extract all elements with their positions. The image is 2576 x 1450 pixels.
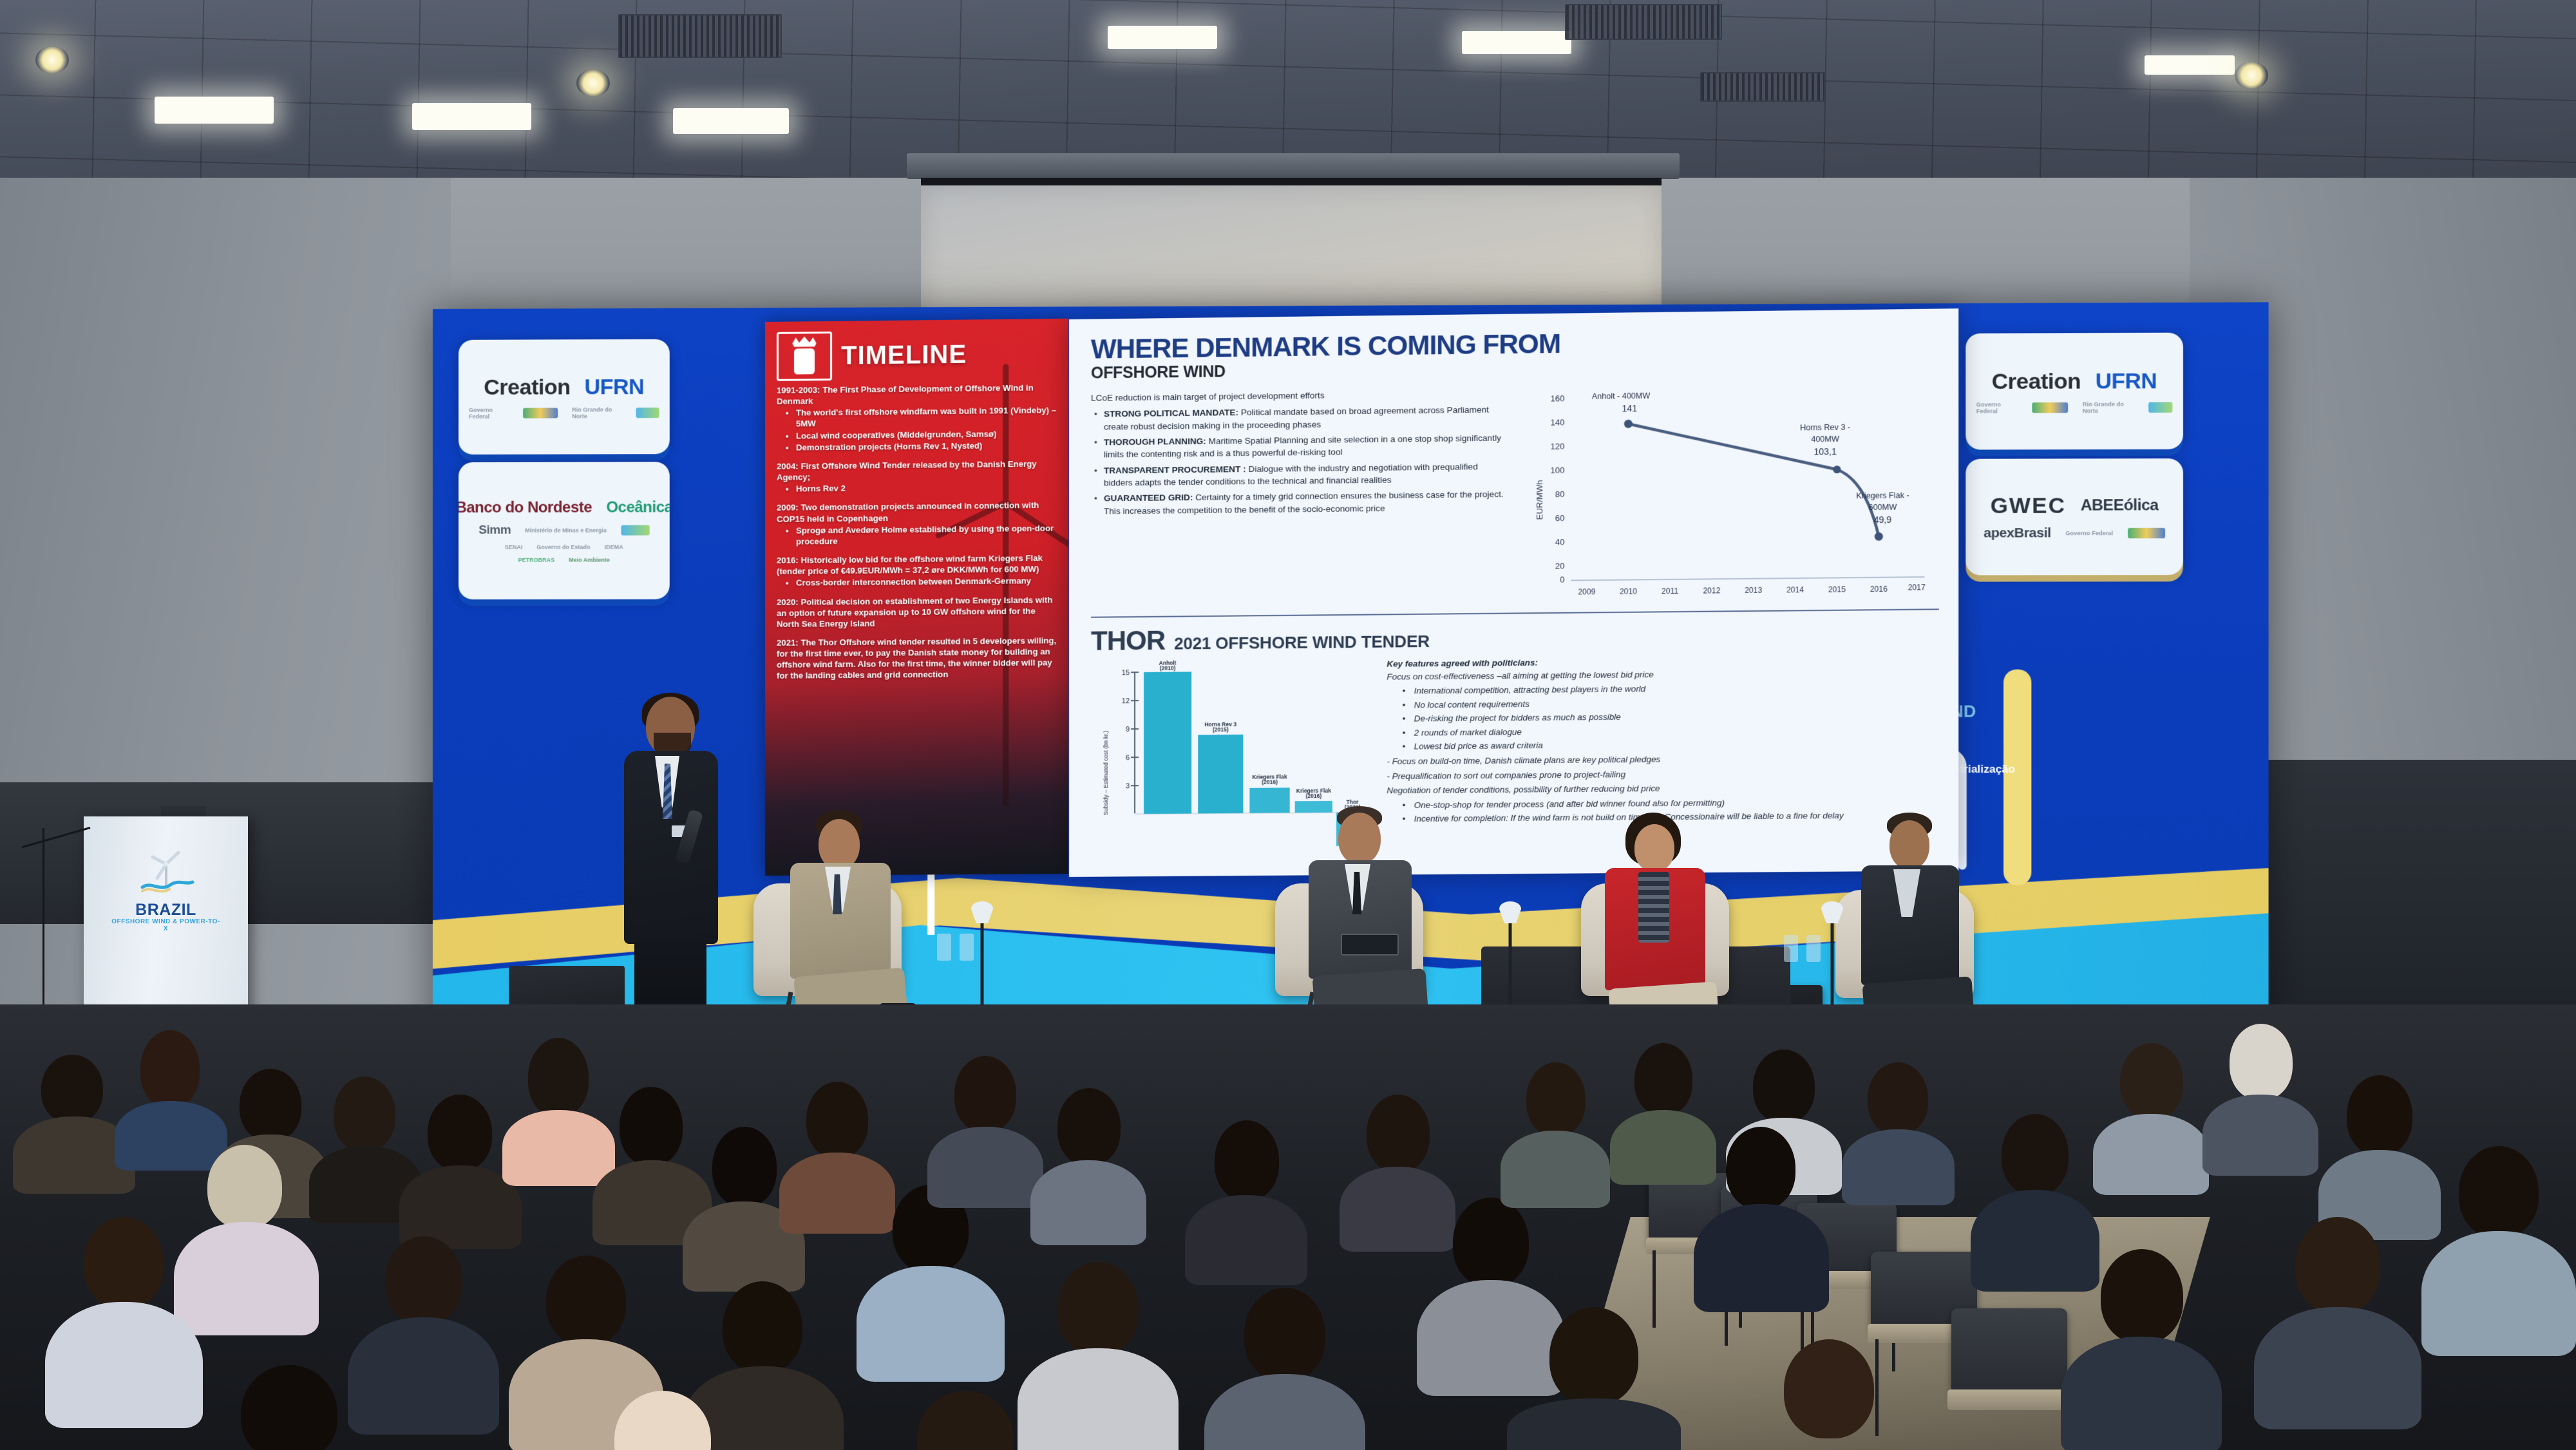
svg-text:(2010): (2010) bbox=[1160, 665, 1176, 672]
slide-lower-section: THOR 2021 OFFSHORE WIND TENDER Subsidy –… bbox=[1069, 610, 1958, 877]
audience-shoulders bbox=[45, 1302, 203, 1428]
sponsor-board-right-lower: GWEC ABEEólica apexBrasil Governo Federa… bbox=[1965, 458, 2183, 575]
audience-shoulders bbox=[2093, 1114, 2209, 1195]
audience-member bbox=[857, 1185, 1005, 1378]
audience-head bbox=[723, 1281, 802, 1373]
sponsor-logo-oceanica: Oceânica bbox=[606, 498, 669, 516]
ceiling-light bbox=[2145, 55, 2235, 75]
audience-member bbox=[927, 1056, 1043, 1204]
sponsor-logo-rnmais bbox=[636, 408, 659, 418]
thor-bullet: Lowest bid price as award criteria bbox=[1414, 736, 1927, 753]
audience-chair bbox=[1951, 1308, 2067, 1396]
ceiling-spotlight bbox=[2235, 62, 2268, 89]
timeline-text: First Offshore Wind Tender released by t… bbox=[777, 459, 1037, 482]
audience-shoulders bbox=[1842, 1129, 1955, 1205]
sponsor-logo-apexbrasil: apexBrasil bbox=[1984, 525, 2050, 541]
timeline-block: 2020: Political decision on establishmen… bbox=[777, 594, 1058, 630]
ceiling-spotlight bbox=[35, 46, 69, 73]
audience-head bbox=[1244, 1288, 1325, 1380]
sponsor-board-left-upper: Creation UFRN Governo Federal Rio Grande… bbox=[459, 339, 670, 455]
slide-lede: LCoE reduction is main target of project… bbox=[1091, 387, 1505, 404]
audience-head bbox=[1215, 1120, 1279, 1200]
audience-shoulders bbox=[1030, 1160, 1146, 1245]
sponsor-logo-creation: Creation bbox=[484, 375, 570, 400]
podium-logo: BRAZIL OFFSHORE WIND & POWER-TO-X bbox=[109, 847, 222, 932]
timeline-item: Demonstration projects (Horns Rev 1, Nys… bbox=[796, 439, 1058, 453]
audience-head bbox=[334, 1077, 395, 1151]
audience-head bbox=[2459, 1146, 2539, 1238]
svg-text:2009: 2009 bbox=[1578, 587, 1595, 596]
presentation-slide: WHERE DENMARK IS COMING FROM OFFSHORE WI… bbox=[1069, 308, 1958, 877]
svg-text:2011: 2011 bbox=[1662, 587, 1678, 596]
audience-shoulders bbox=[927, 1127, 1043, 1208]
water-glass bbox=[1806, 935, 1821, 962]
audience-head bbox=[1868, 1062, 1928, 1135]
audience-head bbox=[41, 1055, 103, 1123]
svg-text:(2015): (2015) bbox=[1213, 726, 1229, 733]
svg-text:2012: 2012 bbox=[1703, 586, 1720, 595]
audience-head bbox=[2101, 1249, 2183, 1343]
svg-text:2014: 2014 bbox=[1786, 585, 1804, 594]
audience-member bbox=[869, 1391, 1063, 1450]
slide-bullet: STRONG POLITICAL MANDATE: Political mand… bbox=[1104, 404, 1505, 433]
timeline-text: Two demonstration projects announced in … bbox=[777, 500, 1039, 523]
timeline-year: 2009: bbox=[777, 503, 799, 513]
thor-subtitle: 2021 OFFSHORE WIND TENDER bbox=[1174, 632, 1430, 654]
standing-speaker bbox=[615, 697, 724, 1044]
sponsor-logo-senai: SENAI bbox=[505, 543, 523, 550]
audience-head bbox=[2230, 1024, 2293, 1100]
ceiling-light bbox=[1108, 26, 1217, 49]
thor-dash-line: - Prequalification to sort out companies… bbox=[1387, 766, 1927, 782]
audience-member bbox=[2421, 1146, 2576, 1352]
audience-member bbox=[2093, 1043, 2209, 1191]
sponsor-logo-rn: Rio Grande do Norte bbox=[2083, 400, 2134, 414]
panelist-tablet bbox=[1341, 934, 1399, 956]
timeline-text: Historically low bid for the offshore wi… bbox=[777, 553, 1043, 576]
svg-text:0: 0 bbox=[1560, 575, 1564, 585]
audience-member bbox=[1185, 1120, 1307, 1281]
svg-text:103,1: 103,1 bbox=[1814, 446, 1837, 457]
timeline-block: 2009: Two demonstration projects announc… bbox=[777, 500, 1058, 547]
audience-member bbox=[1501, 1062, 1610, 1204]
svg-text:80: 80 bbox=[1555, 489, 1565, 499]
audience-member bbox=[193, 1365, 386, 1450]
svg-text:40: 40 bbox=[1555, 537, 1565, 547]
audience-head bbox=[546, 1256, 626, 1346]
audience-chair-seat bbox=[1947, 1389, 2071, 1410]
audience-member bbox=[2254, 1217, 2421, 1423]
sponsor-logo-ufrn: UFRN bbox=[2096, 368, 2157, 394]
audience-head bbox=[806, 1082, 868, 1158]
audience-head bbox=[2347, 1075, 2412, 1155]
timeline-item: Sprogø and Avedøre Holme established by … bbox=[796, 522, 1058, 547]
timeline-item: Cross-border interconnection between Den… bbox=[796, 575, 1058, 588]
ceiling-light bbox=[1462, 31, 1571, 54]
microphone-stand bbox=[43, 828, 44, 1008]
sponsor-logo-brasil bbox=[523, 408, 558, 418]
audience-member bbox=[1739, 1339, 1919, 1450]
timeline-block: 2021: The Thor Offshore wind tender resu… bbox=[777, 635, 1058, 681]
timeline-block: 1991-2003: The First Phase of Developmen… bbox=[777, 382, 1058, 453]
slide-bullet: THOROUGH PLANNING: Maritime Spatial Plan… bbox=[1104, 432, 1505, 462]
audience-head bbox=[241, 1365, 337, 1450]
svg-text:EUR/MWh: EUR/MWh bbox=[1535, 480, 1544, 520]
audience-shoulders bbox=[2421, 1231, 2576, 1356]
panelist-head bbox=[819, 819, 860, 869]
audience-head bbox=[1057, 1262, 1139, 1355]
timeline-text: Political decision on establishment of t… bbox=[777, 595, 1052, 629]
audience-head bbox=[2120, 1043, 2183, 1119]
svg-text:Kriegers Flak -: Kriegers Flak - bbox=[1856, 491, 1909, 500]
podium-subtitle: OFFSHORE WIND & POWER-TO-X bbox=[109, 918, 222, 932]
sponsor-logo-gov-estado: Governo do Estado bbox=[536, 543, 590, 550]
svg-text:120: 120 bbox=[1551, 442, 1565, 451]
audience-head bbox=[428, 1095, 492, 1171]
svg-text:600MW: 600MW bbox=[1869, 503, 1897, 513]
audience-head bbox=[620, 1087, 683, 1165]
sponsor-logo-abeeolica: ABEEólica bbox=[2081, 496, 2159, 515]
slide-bullet: TRANSPARENT PROCUREMENT : Dialogue with … bbox=[1104, 460, 1505, 489]
audience-head bbox=[1753, 1050, 1815, 1123]
projector-screen-housing bbox=[907, 153, 1680, 179]
sponsor-logo-idema: IDEMA bbox=[605, 543, 623, 550]
podium-brand: BRAZIL bbox=[109, 902, 222, 918]
svg-text:Subsidy – Estimated cost (bn k: Subsidy – Estimated cost (bn kr.) bbox=[1103, 731, 1109, 815]
audience-head bbox=[240, 1069, 301, 1141]
svg-text:60: 60 bbox=[1555, 513, 1565, 523]
sponsor-logo-rn: Rio Grande do Norte bbox=[572, 406, 621, 419]
audience-head bbox=[614, 1391, 711, 1450]
sponsor-logo-mme: Ministério de Minas e Energia bbox=[525, 527, 607, 533]
ceiling-light bbox=[673, 108, 789, 134]
thor-dash-line: - Focus on build-on time, Danish climate… bbox=[1387, 751, 1927, 767]
audience-member bbox=[1030, 1088, 1146, 1243]
timeline-year: 2016: bbox=[777, 556, 799, 565]
svg-text:2013: 2013 bbox=[1745, 586, 1762, 595]
svg-text:2015: 2015 bbox=[1828, 585, 1846, 594]
svg-text:(2016): (2016) bbox=[1306, 793, 1322, 799]
svg-text:2017: 2017 bbox=[1908, 583, 1926, 592]
audience-shoulders bbox=[2061, 1337, 2222, 1450]
ceiling-spotlight bbox=[576, 70, 610, 97]
sponsor-logo-brasil bbox=[2032, 402, 2069, 412]
sponsor-logo-brasil bbox=[2128, 527, 2165, 538]
slide-bullet-list: LCoE reduction is main target of project… bbox=[1091, 387, 1505, 604]
panelist-head bbox=[1634, 824, 1674, 872]
audience-shoulders bbox=[2202, 1095, 2318, 1176]
audience-head bbox=[954, 1056, 1016, 1132]
audience-shoulders bbox=[857, 1266, 1005, 1382]
audience-member bbox=[567, 1391, 760, 1450]
ceiling-light bbox=[412, 103, 531, 130]
svg-text:20: 20 bbox=[1555, 561, 1565, 571]
svg-text:400MW: 400MW bbox=[1811, 435, 1839, 444]
svg-text:(2016): (2016) bbox=[1262, 778, 1278, 785]
audience-head bbox=[207, 1145, 282, 1229]
audience-head bbox=[385, 1236, 462, 1324]
audience-member bbox=[45, 1217, 203, 1423]
water-glass bbox=[937, 934, 951, 961]
hvac-vent bbox=[1565, 4, 1722, 40]
sponsor-logo-simm: Simm bbox=[478, 523, 511, 537]
slide-upper-section: WHERE DENMARK IS COMING FROM OFFSHORE WI… bbox=[1069, 308, 1958, 616]
audience-head bbox=[2002, 1114, 2069, 1195]
sponsor-logo-creation: Creation bbox=[1992, 369, 2081, 395]
hvac-vent bbox=[618, 14, 782, 58]
audience-member bbox=[1204, 1288, 1365, 1450]
svg-text:6: 6 bbox=[1126, 754, 1130, 762]
svg-text:49,9: 49,9 bbox=[1874, 514, 1892, 525]
audience-head bbox=[712, 1127, 777, 1207]
audience-member bbox=[1842, 1062, 1955, 1201]
audience-member bbox=[2202, 1024, 2318, 1172]
audience-shoulders bbox=[1501, 1131, 1610, 1208]
audience-shoulders bbox=[2254, 1307, 2421, 1429]
svg-text:Horns Rev 3 -: Horns Rev 3 - bbox=[1800, 423, 1850, 433]
audience-head bbox=[1634, 1043, 1692, 1115]
timeline-year: 2020: bbox=[777, 597, 799, 607]
audience-head bbox=[1453, 1198, 1529, 1286]
sponsor-logo-rnmais bbox=[2148, 402, 2173, 412]
sponsor-board-left-lower: Banco do Nordeste Oceânica Simm Ministér… bbox=[459, 462, 670, 599]
panelist-head bbox=[1338, 813, 1381, 864]
audience-head bbox=[2295, 1217, 2380, 1313]
panelist-head bbox=[1889, 820, 1929, 869]
timeline-item: Horns Rev 2 bbox=[796, 481, 1058, 494]
sponsor-board-right-upper: Creation UFRN Governo Federal Rio Grande… bbox=[1965, 333, 2183, 450]
audience-shoulders bbox=[1694, 1204, 1829, 1312]
audience-seating-area bbox=[0, 1004, 2576, 1450]
audience-head bbox=[1057, 1088, 1121, 1165]
audience-head bbox=[140, 1030, 200, 1107]
sponsor-logo-govfederal: Governo Federal bbox=[469, 406, 509, 419]
audience-head bbox=[1784, 1339, 1874, 1438]
svg-text:12: 12 bbox=[1122, 697, 1130, 705]
svg-text:141: 141 bbox=[1622, 403, 1638, 413]
sponsor-logo-banco-do-nordeste: Banco do Nordeste bbox=[459, 498, 592, 516]
conference-panel-photo: H2 Creation UFRN Governo Federal Rio Gra… bbox=[0, 0, 2576, 1450]
timeline-item: The world's first offshore windfarm was … bbox=[796, 405, 1058, 430]
svg-text:15: 15 bbox=[1122, 669, 1130, 677]
svg-text:2016: 2016 bbox=[1870, 585, 1888, 594]
lcoe-line-chart: 160 140 120 100 80 60 40 20 0 EUR/MWh bbox=[1514, 382, 1931, 601]
svg-text:Anholt - 400MW: Anholt - 400MW bbox=[1592, 391, 1651, 401]
sponsor-logo-gov-rn bbox=[621, 525, 649, 535]
svg-text:3: 3 bbox=[1126, 782, 1130, 790]
audience-shoulders bbox=[1185, 1195, 1307, 1285]
svg-text:160: 160 bbox=[1551, 393, 1565, 403]
hvac-vent bbox=[1700, 72, 1825, 102]
timeline-text: The Thor Offshore wind tender resulted i… bbox=[777, 636, 1056, 681]
ceiling-light bbox=[155, 97, 274, 124]
audience-head bbox=[528, 1038, 589, 1116]
audience-head bbox=[1549, 1307, 1638, 1405]
audience-shoulders bbox=[1204, 1374, 1365, 1450]
sponsor-logo-govfederal: Governo Federal bbox=[2065, 530, 2113, 536]
timeline-block: 2004: First Offshore Wind Tender release… bbox=[777, 458, 1058, 494]
sponsor-logo-meio-ambiente: Meio Ambiente bbox=[569, 556, 610, 563]
audience-head bbox=[84, 1217, 164, 1308]
thor-dash-line: Negotiation of tender conditions, possib… bbox=[1387, 780, 1927, 797]
svg-text:2010: 2010 bbox=[1620, 587, 1637, 596]
timeline-heading: TIMELINE bbox=[841, 340, 967, 370]
danish-coat-of-arms-icon bbox=[777, 332, 832, 381]
audience-member bbox=[1507, 1307, 1681, 1450]
timeline-year: 2021: bbox=[777, 638, 799, 648]
water-glass bbox=[960, 934, 974, 961]
audience-head bbox=[1726, 1127, 1795, 1209]
thor-title: THOR bbox=[1091, 625, 1165, 657]
timeline-body: 1991-2003: The First Phase of Developmen… bbox=[777, 382, 1058, 681]
slide-bullet: GUARANTEED GRID: Certainty for a timely … bbox=[1104, 488, 1505, 517]
timeline-block: 2016: Historically low bid for the offsh… bbox=[777, 552, 1058, 588]
svg-text:100: 100 bbox=[1551, 466, 1565, 475]
audience-member bbox=[2061, 1249, 2222, 1449]
timeline-poster: TIMELINE 1991-2003: The First Phase of D… bbox=[765, 319, 1068, 876]
water-glass bbox=[1784, 935, 1798, 962]
svg-text:9: 9 bbox=[1126, 726, 1130, 733]
panelist-inner-top bbox=[1638, 872, 1669, 943]
sponsor-logo-ufrn: UFRN bbox=[585, 374, 645, 399]
audience-shoulders bbox=[1507, 1398, 1681, 1450]
sponsor-logo-petrobras: PETROBRAS bbox=[518, 556, 554, 563]
svg-text:140: 140 bbox=[1551, 418, 1565, 428]
audience-head bbox=[917, 1391, 1014, 1450]
audience-member bbox=[1694, 1127, 1829, 1307]
audience-head bbox=[1367, 1095, 1430, 1172]
sponsor-logo-govfederal: Governo Federal bbox=[1976, 401, 2018, 414]
timeline-year: 2004: bbox=[777, 461, 799, 471]
sponsor-logo-gwec: GWEC bbox=[1991, 493, 2066, 519]
timeline-year: 1991-2003: bbox=[777, 385, 820, 395]
audience-head bbox=[1526, 1062, 1586, 1136]
